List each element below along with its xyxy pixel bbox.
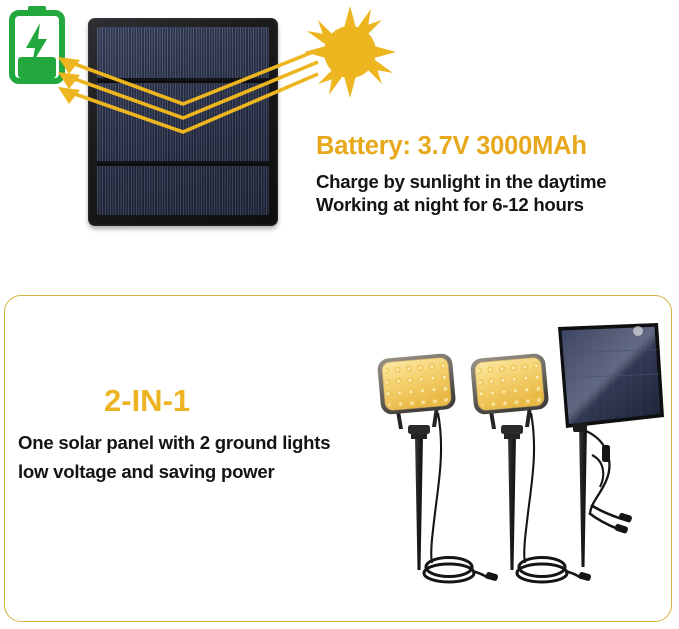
battery-description-line-2: Working at night for 6-12 hours: [316, 193, 666, 217]
infographic-root: Battery: 3.7V 3000MAh Charge by sunlight…: [0, 0, 679, 629]
battery-text-block: Battery: 3.7V 3000MAh Charge by sunlight…: [316, 132, 666, 217]
sun-icon: [304, 6, 396, 98]
cell-divider: [97, 78, 269, 83]
two-in-one-description-line-1: One solar panel with 2 ground lights: [18, 431, 378, 455]
cell-divider: [97, 161, 269, 166]
battery-headline: Battery: 3.7V 3000MAh: [316, 132, 666, 161]
solar-panel-cells: [97, 27, 269, 215]
solar-panel-with-stake: [558, 323, 664, 567]
battery-description-line-1: Charge by sunlight in the daytime: [316, 170, 666, 194]
solar-panel-photo: [558, 323, 664, 428]
cable-coil-2: [517, 558, 592, 583]
cable-coil-1: [424, 558, 499, 583]
battery-section: Battery: 3.7V 3000MAh Charge by sunlight…: [0, 0, 679, 270]
two-in-one-text-block: 2-IN-1 One solar panel with 2 ground lig…: [18, 385, 378, 484]
solar-panel-illustration: [88, 18, 278, 226]
two-in-one-description-line-2: low voltage and saving power: [18, 460, 378, 484]
battery-charging-icon: [6, 4, 68, 84]
two-in-one-headline: 2-IN-1: [18, 385, 378, 418]
product-photo-two-spotlights-and-solar-panel: [370, 305, 670, 620]
